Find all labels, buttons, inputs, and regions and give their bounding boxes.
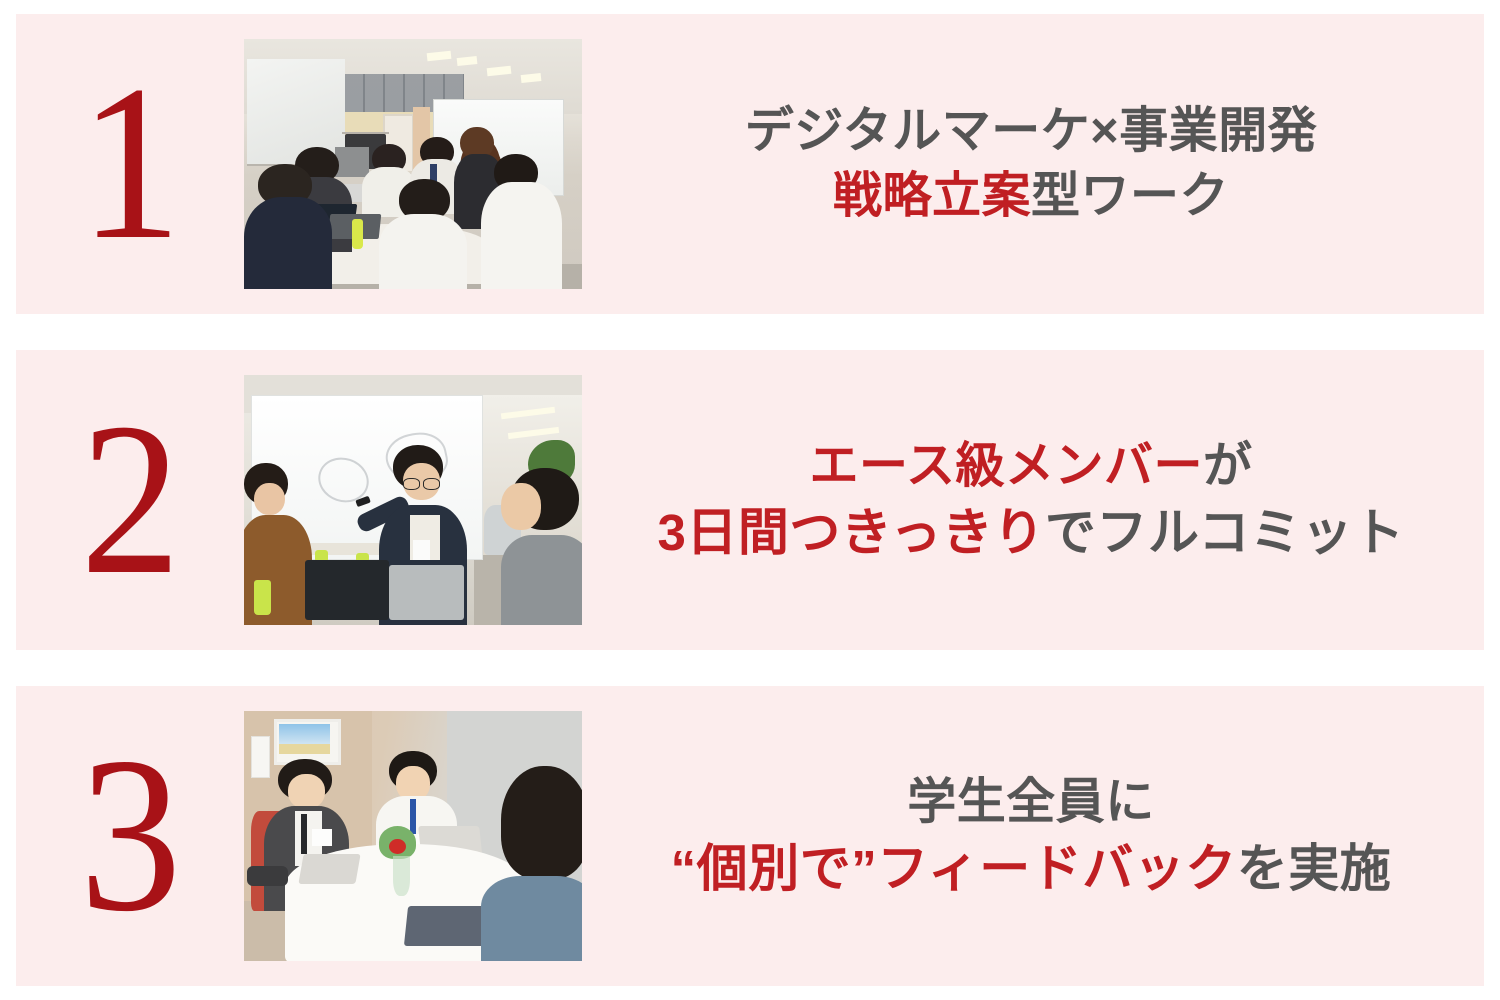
- caption-line-1: 学生全員に: [907, 770, 1154, 835]
- features-board: 1: [0, 0, 1500, 1000]
- caption-line-1: デジタルマーケ×事業開発: [745, 99, 1318, 164]
- feature-number-3-wrap: 3: [16, 686, 244, 986]
- feature-number-2-wrap: 2: [16, 350, 244, 650]
- feature-row-2: 2: [16, 350, 1484, 650]
- feature-number-3: 3: [79, 736, 181, 936]
- caption-line-2: 戦略立案型ワーク: [833, 164, 1229, 229]
- caption-line-2: 3日間つきっきりでフルコミット: [658, 499, 1405, 566]
- caption-segment: 型ワーク: [1031, 169, 1229, 223]
- caption-segment: 学生全員に: [907, 775, 1154, 829]
- feature-photo-1-wrap: [244, 14, 596, 314]
- feature-row-1: 1: [16, 14, 1484, 314]
- feature-row-3: 3: [16, 686, 1484, 986]
- caption-segment-highlight: “個別で”フィードバック: [671, 840, 1237, 897]
- caption-segment-highlight: 戦略立案: [833, 169, 1031, 223]
- caption-segment-highlight: エース級メンバー: [810, 439, 1203, 493]
- group-workshop-photo: [244, 39, 582, 289]
- individual-feedback-photo: [244, 711, 582, 961]
- feature-caption-2: エース級メンバーが 3日間つきっきりでフルコミット: [596, 434, 1484, 566]
- caption-segment: を実施: [1237, 840, 1392, 897]
- feature-caption-3: 学生全員に “個別で”フィードバックを実施: [596, 770, 1484, 902]
- caption-line-1: エース級メンバーが: [810, 434, 1253, 499]
- caption-line-2: “個別で”フィードバックを実施: [671, 835, 1392, 902]
- caption-segment: でフルコミット: [1045, 504, 1405, 561]
- feature-caption-1: デジタルマーケ×事業開発 戦略立案型ワーク: [596, 99, 1484, 228]
- feature-number-1-wrap: 1: [16, 14, 244, 314]
- feature-photo-3-wrap: [244, 686, 596, 986]
- caption-segment: デジタルマーケ×事業開発: [745, 104, 1318, 158]
- feature-photo-2-wrap: [244, 350, 596, 650]
- caption-segment: が: [1203, 439, 1253, 493]
- caption-segment-highlight: 3日間つきっきり: [658, 504, 1045, 561]
- feature-number-2: 2: [80, 402, 180, 598]
- whiteboard-explanation-photo: [244, 375, 582, 625]
- feature-number-1: 1: [79, 64, 181, 264]
